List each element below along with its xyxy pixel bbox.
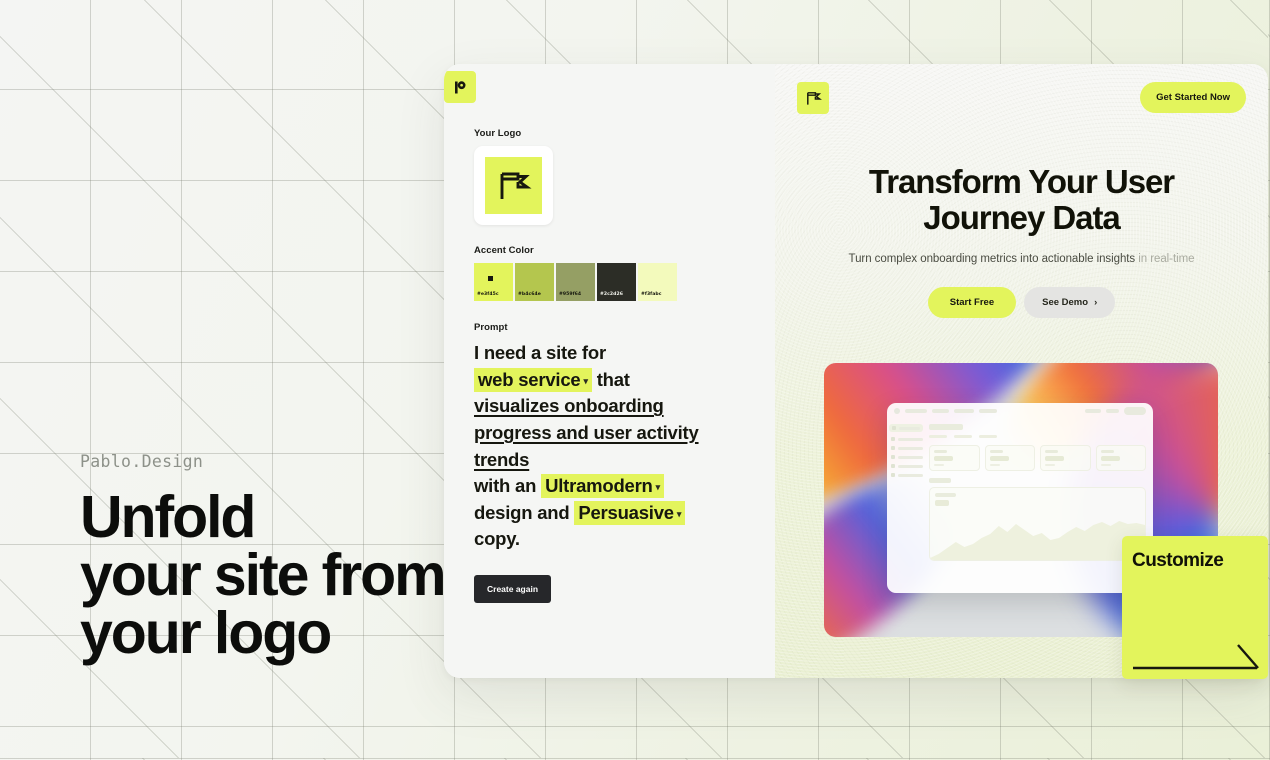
swatch-hex-label: #2c2d26 [597, 293, 623, 301]
preview-hero: Transform Your User Journey Data Turn co… [775, 164, 1268, 318]
mock-tab [954, 435, 972, 438]
swatch-hex-label: #959f64 [556, 293, 581, 301]
mock-dashboard-window [887, 403, 1153, 593]
preview-title: Transform Your User Journey Data [807, 164, 1237, 237]
mock-stat-card [985, 445, 1036, 471]
mock-sidebar-item [891, 437, 923, 441]
flag-logo-icon[interactable] [797, 82, 829, 114]
mock-nav-pill [979, 409, 997, 413]
chevron-down-icon: ▾ [677, 509, 681, 519]
mock-tab [979, 435, 997, 438]
prompt-copy-end: copy. [474, 528, 520, 549]
mock-avatar [894, 408, 900, 414]
mock-stat-card [929, 445, 980, 471]
mock-nav-pill [954, 409, 974, 413]
get-started-now-button[interactable]: Get Started Now [1140, 82, 1246, 113]
flag-logo-icon [485, 157, 542, 214]
see-demo-button[interactable]: See Demo › [1024, 287, 1115, 318]
arrow-down-right-icon [1132, 641, 1260, 671]
hero-copy: Pablo.Design Unfold your site from your … [80, 452, 460, 662]
mock-area-chart [930, 514, 1145, 560]
mock-section-label [929, 478, 951, 483]
mock-chart-card [929, 487, 1146, 561]
mock-sidebar-item [889, 424, 923, 432]
mock-topbar [887, 403, 1153, 419]
color-swatch[interactable]: #b4c64e [515, 263, 554, 301]
preview-subtitle-muted: in real-time [1138, 253, 1194, 265]
prompt-design-and: design and [474, 502, 569, 523]
swatch-hex-label: #e3f45c [474, 293, 499, 301]
brand-name: Pablo.Design [80, 452, 460, 471]
color-swatch[interactable]: #e3f45c [474, 263, 513, 301]
chip-type-label: web service [478, 369, 580, 390]
mock-sidebar-item [891, 455, 923, 459]
color-swatch[interactable]: #959f64 [556, 263, 595, 301]
preview-subtitle-strong: Turn complex onboarding metrics into act… [849, 253, 1136, 265]
mock-tab [929, 435, 947, 438]
mock-stat-card [1040, 445, 1091, 471]
chevron-down-icon: ▾ [656, 482, 660, 492]
mock-nav-pill [932, 409, 949, 413]
builder-pane: Your Logo Accent Color [444, 64, 775, 678]
prompt-after-chip: that [597, 369, 630, 390]
chip-style-label: Ultramodern [545, 475, 653, 496]
mock-sidebar-item [891, 446, 923, 450]
preview-cta-row: Start Free See Demo › [797, 287, 1246, 318]
mock-stat-cards [929, 445, 1146, 471]
customize-title: Customize [1122, 536, 1268, 572]
swatch-hex-label: #f3fabc [638, 293, 661, 301]
mock-nav-pill [1106, 409, 1119, 413]
color-swatch[interactable]: #f3fabc [638, 263, 677, 301]
prompt-description[interactable]: visualizes onboarding progress and user … [474, 395, 699, 469]
accent-swatch-row: #e3f45c #b4c64e #959f64 #2c2d26 #f3fabc [474, 263, 775, 301]
mock-sidebar [887, 419, 927, 593]
prompt-label: Prompt [474, 322, 775, 333]
builder-body: Your Logo Accent Color [444, 64, 775, 603]
color-swatch[interactable]: #2c2d26 [597, 263, 636, 301]
create-again-button[interactable]: Create again [474, 575, 551, 603]
prompt-with-an: with an [474, 475, 536, 496]
logo-tile[interactable] [474, 146, 553, 225]
mock-stat-card [1096, 445, 1147, 471]
mock-sidebar-item [891, 473, 923, 477]
prompt-chip-style[interactable]: Ultramodern▾ [541, 474, 664, 498]
swatch-hex-label: #b4c64e [515, 293, 541, 301]
pablo-mark-icon[interactable] [444, 71, 476, 103]
swatch-selected-dot [488, 276, 493, 281]
mock-page-heading [929, 424, 963, 430]
hero-headline: Unfold your site from your logo [80, 489, 460, 662]
mock-body [887, 419, 1153, 593]
mock-nav-pill [905, 409, 927, 413]
chip-tone-label: Persuasive [578, 502, 674, 523]
see-demo-label: See Demo [1042, 297, 1088, 308]
chevron-down-icon: ▾ [583, 376, 587, 386]
mock-cta-pill [1124, 407, 1146, 415]
mock-sidebar-item [891, 464, 923, 468]
mock-nav-pill [1085, 409, 1101, 413]
chevron-right-icon: › [1094, 297, 1097, 308]
prompt-text[interactable]: I need a site for web service▾ that visu… [474, 340, 706, 553]
prompt-line-1: I need a site for [474, 342, 606, 363]
preview-subtitle: Turn complex onboarding metrics into act… [797, 253, 1246, 265]
page-root: Pablo.Design Unfold your site from your … [0, 0, 1270, 760]
start-free-button[interactable]: Start Free [928, 287, 1016, 318]
mock-tabs [929, 435, 1146, 438]
your-logo-label: Your Logo [474, 128, 775, 139]
mock-main [927, 419, 1153, 593]
accent-color-label: Accent Color [474, 245, 775, 256]
prompt-chip-type[interactable]: web service▾ [474, 368, 592, 392]
prompt-chip-tone[interactable]: Persuasive▾ [574, 501, 685, 525]
customize-card[interactable]: Customize [1122, 536, 1268, 679]
